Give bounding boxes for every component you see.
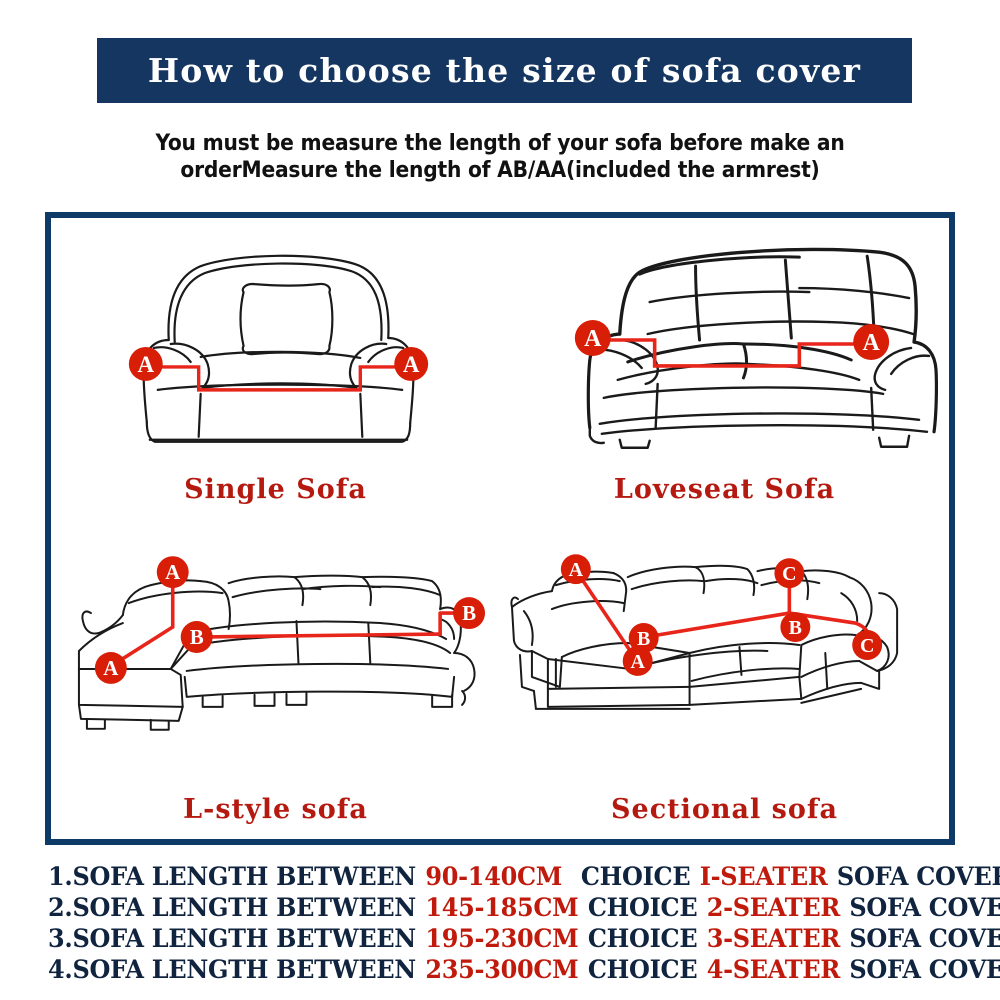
- row-choice: CHOICE: [588, 924, 697, 954]
- marker-a-left: A: [129, 347, 163, 381]
- caption-sectional-sofa: Sectional sofa: [500, 794, 949, 825]
- svg-text:A: A: [165, 560, 180, 584]
- svg-text:A: A: [103, 655, 118, 679]
- sectional-sofa-illustration: A A B B: [500, 537, 949, 752]
- row-suffix: SOFA COVER: [849, 955, 1000, 985]
- marker-b-right: B: [780, 612, 810, 642]
- row-index: 3.: [48, 924, 72, 954]
- diagram-frame: A A Single Sofa: [45, 212, 955, 845]
- marker-a-top: A: [561, 554, 591, 584]
- row-prefix: SOFA LENGTH BETWEEN: [72, 955, 415, 985]
- subtitle-line-2: orderMeasure the length of AB/AA(include…: [50, 157, 950, 184]
- marker-a-top: A: [157, 556, 189, 588]
- row-choice: CHOICE: [581, 862, 690, 892]
- subtitle: You must be measure the length of your s…: [50, 130, 950, 184]
- row-choice: CHOICE: [588, 893, 697, 923]
- caption-loveseat-sofa: Loveseat Sofa: [500, 474, 949, 505]
- marker-a-bottom: A: [95, 651, 127, 683]
- page-title: How to choose the size of sofa cover: [148, 51, 861, 90]
- row-suffix: SOFA COVER: [849, 924, 1000, 954]
- row-range: 235-300CM: [425, 955, 578, 985]
- size-guide-list: 1.SOFA LENGTH BETWEEN90-140CMCHOICEI-SEA…: [48, 862, 960, 986]
- diagram-cell-sectional-sofa: A A B B: [500, 529, 949, 840]
- row-index: 4.: [48, 955, 72, 985]
- svg-text:B: B: [462, 601, 476, 625]
- size-guide-row-3: 3.SOFA LENGTH BETWEEN195-230CMCHOICE3-SE…: [48, 924, 905, 955]
- marker-a-left: A: [575, 320, 611, 356]
- svg-text:A: A: [137, 352, 154, 377]
- diagram-grid: A A Single Sofa: [51, 218, 949, 839]
- row-prefix: SOFA LENGTH BETWEEN: [72, 924, 415, 954]
- svg-text:A: A: [863, 330, 881, 356]
- size-guide-row-1: 1.SOFA LENGTH BETWEEN90-140CMCHOICEI-SEA…: [48, 862, 905, 893]
- row-range: 195-230CM: [425, 924, 578, 954]
- marker-a-right: A: [853, 324, 889, 360]
- row-seater: 4-SEATER: [707, 955, 840, 985]
- subtitle-line-1: You must be measure the length of your s…: [50, 130, 950, 157]
- l-style-sofa-illustration: A A B B: [51, 537, 500, 752]
- size-guide-row-4: 4.SOFA LENGTH BETWEEN235-300CMCHOICE4-SE…: [48, 955, 905, 986]
- row-prefix: SOFA LENGTH BETWEEN: [72, 893, 415, 923]
- loveseat-sofa-illustration: A A: [500, 222, 949, 452]
- row-choice: CHOICE: [588, 955, 697, 985]
- row-seater: 2-SEATER: [707, 893, 840, 923]
- marker-b-left: B: [181, 621, 213, 653]
- svg-text:B: B: [190, 625, 204, 649]
- marker-b-right: B: [453, 597, 485, 629]
- row-suffix: SOFA COVER: [849, 893, 1000, 923]
- title-banner: How to choose the size of sofa cover: [97, 38, 912, 103]
- row-range: 145-185CM: [425, 893, 578, 923]
- svg-text:A: A: [584, 326, 602, 352]
- row-prefix: SOFA LENGTH BETWEEN: [72, 862, 415, 892]
- svg-text:A: A: [403, 352, 420, 377]
- marker-c-bottom: C: [852, 630, 882, 660]
- svg-text:A: A: [630, 650, 645, 672]
- marker-a-right: A: [394, 347, 428, 381]
- row-seater: I-SEATER: [700, 862, 828, 892]
- caption-single-sofa: Single Sofa: [51, 474, 500, 505]
- diagram-cell-l-style-sofa: A A B B: [51, 529, 500, 840]
- svg-text:C: C: [782, 563, 796, 585]
- diagram-cell-loveseat-sofa: A A Loveseat Sofa: [500, 218, 949, 529]
- svg-text:A: A: [569, 559, 584, 581]
- caption-l-style-sofa: L-style sofa: [51, 794, 500, 825]
- marker-b-left: B: [629, 623, 659, 653]
- infographic-page: How to choose the size of sofa cover You…: [0, 0, 1000, 1000]
- diagram-cell-single-sofa: A A Single Sofa: [51, 218, 500, 529]
- row-index: 2.: [48, 893, 72, 923]
- svg-text:B: B: [789, 617, 802, 639]
- size-guide-row-2: 2.SOFA LENGTH BETWEEN145-185CMCHOICE2-SE…: [48, 893, 905, 924]
- svg-text:C: C: [860, 634, 874, 656]
- row-suffix: SOFA COVER: [837, 862, 1000, 892]
- row-index: 1.: [48, 862, 72, 892]
- row-range: 90-140CM: [425, 862, 562, 892]
- single-sofa-illustration: A A: [51, 222, 500, 452]
- row-seater: 3-SEATER: [707, 924, 840, 954]
- svg-text:B: B: [637, 627, 650, 649]
- marker-c-top: C: [774, 558, 804, 588]
